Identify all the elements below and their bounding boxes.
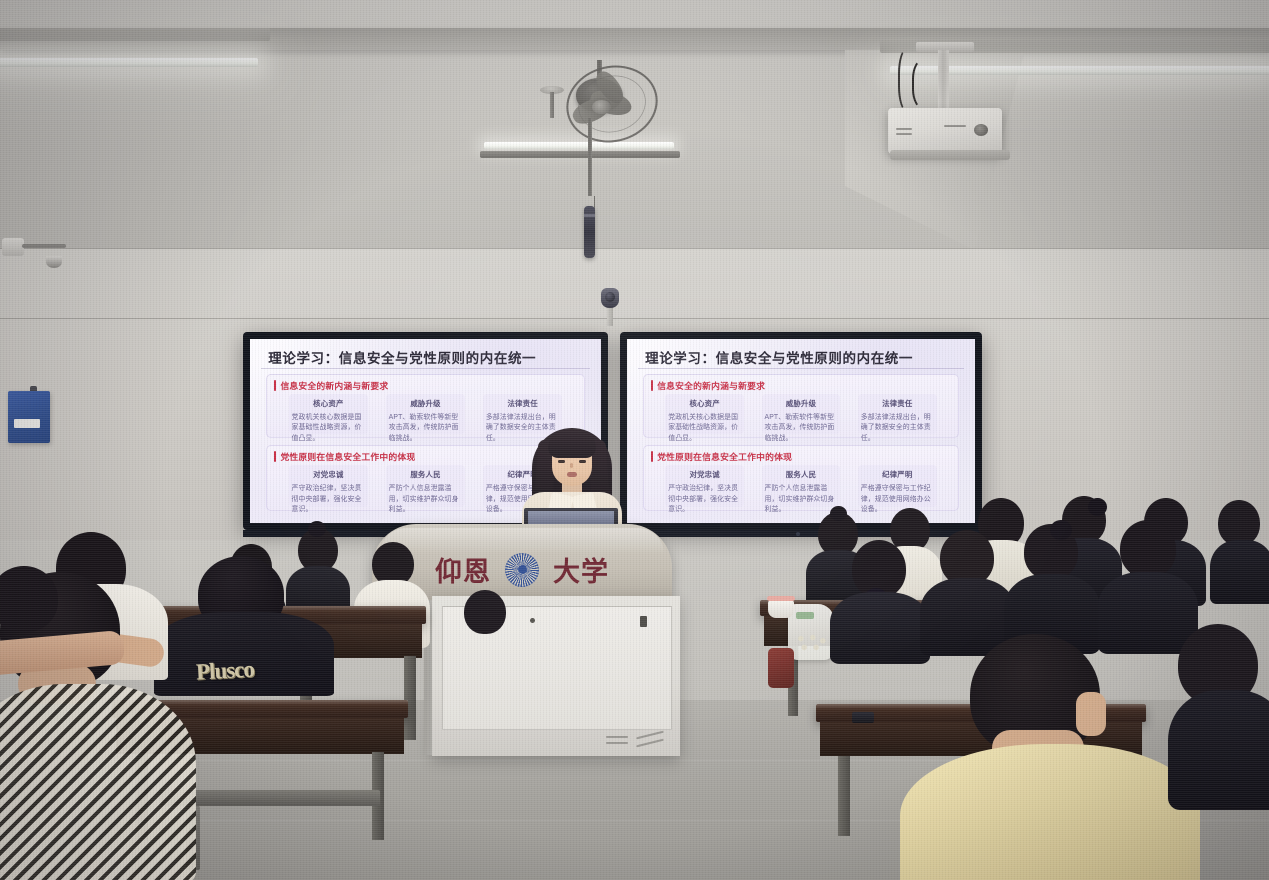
red-backpack [768,648,794,688]
cup-lid [767,596,795,601]
light-rail-center [480,151,680,158]
student-torso [1210,540,1269,604]
section-accent-bar [651,451,653,462]
column-body: 严防个人信息泄露滥用，切实维护群众切身利益。 [389,484,463,516]
blue-wall-sign [8,391,50,443]
column-title: 法律责任 [486,398,560,409]
projector-vent [896,133,912,135]
hoodie-print-text: Plusco [195,657,254,686]
projector-base [890,150,1010,160]
column-title: 服务人民 [765,469,838,480]
column-title: 威胁升级 [389,398,463,409]
fan-down-rod [588,118,592,196]
slide-right: 理论学习：信息安全与党性原则的内在统一 信息安全的新内涵与新要求 核心资产 党政… [627,339,975,523]
wall-seam-top [0,248,1269,249]
student-torso-yellow [900,744,1200,880]
projector-cable [912,58,942,110]
student-hair-bun [1050,520,1072,540]
student-hair-bun [1088,498,1107,516]
slide-title-rule [638,368,964,369]
column-body: APT、勒索软件等新型攻击高发，传统防护面临挑战。 [389,413,463,445]
paper-cup [768,600,794,618]
section-accent-bar [274,451,276,462]
presenter-eye [579,460,586,463]
projector-lens [974,124,988,136]
projector-vent [944,125,966,127]
podium-vent [606,742,628,744]
column-title: 对党忠诚 [668,469,741,480]
student-foreground-right [900,634,1200,880]
display-right[interactable]: 理论学习：信息安全与党性原则的内在统一 信息安全的新内涵与新要求 核心资产 党政… [620,332,982,530]
section-2-heading: 党性原则在信息安全工作中的体现 [657,450,792,463]
column-title: 对党忠诚 [292,469,366,480]
student-head [464,590,506,634]
podium-vent [636,731,664,740]
column-title: 核心资产 [668,398,741,409]
podium-vent [636,739,664,748]
snack-contents [794,632,828,654]
slide-title: 理论学习：信息安全与党性原则的内在统一 [645,347,913,367]
column: 对党忠诚 严守政治纪律，坚决贯彻中央部署，强化安全意识。 [657,465,753,507]
desk-leg [404,656,416,740]
light-housing-left [0,28,270,41]
column: 纪律严明 严格遵守保密与工作纪律，规范使用网络办公设备。 [849,465,945,507]
column: 威胁升级 APT、勒索软件等新型攻击高发，传统防护面临挑战。 [753,394,849,435]
student-cardigan [0,684,196,880]
presenter-eye [558,460,565,463]
student [0,566,80,686]
security-camera-arm [22,244,66,248]
section-accent-bar [274,380,276,391]
fluorescent-tube-left [0,58,258,67]
student-ear [1076,692,1106,736]
section-2-heading: 党性原则在信息安全工作中的体现 [280,450,415,463]
column-body: 严守政治纪律，坚决贯彻中央部署，强化安全意识。 [668,484,741,516]
student-torso [1168,690,1269,810]
classroom-photo: 理论学习：信息安全与党性原则的内在统一 信息安全的新内涵与新要求 核心资产 党政… [0,0,1269,880]
student-hair-bun [308,521,326,537]
presenter-nose [570,463,573,468]
slide-title-rule [261,368,590,369]
presenter-mouth [567,472,577,477]
column-body: 党政机关核心数据是国家基础性战略资源，价值凸显。 [668,413,741,445]
podium-text-left: 仰恩 [435,550,491,589]
column-title: 纪律严明 [861,469,934,480]
security-camera-mount [2,238,24,256]
slide-section-1: 信息安全的新内涵与新要求 核心资产 党政机关核心数据是国家基础性战略资源，价值凸… [643,374,959,438]
section-accent-bar [651,380,653,391]
podium-text-right: 大学 [553,550,609,589]
section-1-columns: 核心资产 党政机关核心数据是国家基础性战略资源，价值凸显。 威胁升级 APT、勒… [657,394,946,435]
column: 法律责任 多部法律法规出台，明确了数据安全的主体责任。 [849,394,945,435]
section-1-heading: 信息安全的新内涵与新要求 [280,379,388,392]
column-body: APT、勒索软件等新型攻击高发，传统防护面临挑战。 [765,413,838,445]
podium-indicator-dot [530,618,535,623]
column-body: 多部法律法规出台，明确了数据安全的主体责任。 [861,413,934,445]
column-body: 党政机关核心数据是国家基础性战略资源，价值凸显。 [292,413,366,445]
microphone-ring [584,214,595,217]
ceiling-hook [550,92,554,118]
podium-lock-icon[interactable] [640,616,647,627]
student-hair-bun [830,506,847,521]
column-body: 严守政治纪律，坚决贯彻中央部署，强化安全意识。 [292,484,366,516]
snack-label [796,612,814,619]
podium-monitor-screen [528,511,614,525]
sunburst-emblem-icon [505,553,539,587]
slide-title: 理论学习：信息安全与党性原则的内在统一 [268,347,536,367]
column-title: 威胁升级 [765,398,838,409]
column: 对党忠诚 严守政治纪律，坚决贯彻中央部署，强化安全意识。 [280,465,377,507]
column-title: 核心资产 [292,398,366,409]
student [1210,500,1269,600]
student [450,590,520,660]
wall-sign-label [14,419,40,428]
mobile-phone[interactable] [852,712,874,723]
desk-leg [838,756,850,836]
projector-vent [896,128,912,130]
podium-vent [606,736,628,738]
plastic-snack-bag [788,604,834,660]
security-camera-dome [46,256,62,268]
section-1-heading: 信息安全的新内涵与新要求 [657,379,765,392]
section-2-columns: 对党忠诚 严守政治纪律，坚决贯彻中央部署，强化安全意识。 服务人民 严防个人信息… [657,465,946,507]
column-title: 服务人民 [389,469,463,480]
fluorescent-tube-center [484,142,674,149]
wall-seam-mid [0,318,1269,319]
column: 核心资产 党政机关核心数据是国家基础性战略资源，价值凸显。 [280,394,377,435]
camera-lens-icon [605,292,615,302]
column: 服务人民 严防个人信息泄露滥用，切实维护群众切身利益。 [753,465,849,507]
column: 服务人民 严防个人信息泄露滥用，切实维护群众切身利益。 [377,465,474,507]
student-head [1120,520,1176,578]
column-title: 法律责任 [861,398,934,409]
column: 威胁升级 APT、勒索软件等新型攻击高发，传统防护面临挑战。 [377,394,474,435]
student [1168,624,1269,804]
display-power-led [796,532,800,536]
slide-section-2: 党性原则在信息安全工作中的体现 对党忠诚 严守政治纪律，坚决贯彻中央部署，强化安… [643,445,959,511]
column: 核心资产 党政机关核心数据是国家基础性战略资源，价值凸显。 [657,394,753,435]
display-right-panel: 理论学习：信息安全与党性原则的内在统一 信息安全的新内涵与新要求 核心资产 党政… [627,339,975,523]
presenter-hair-front [548,430,596,458]
student [1004,524,1100,652]
student-head [0,566,58,632]
